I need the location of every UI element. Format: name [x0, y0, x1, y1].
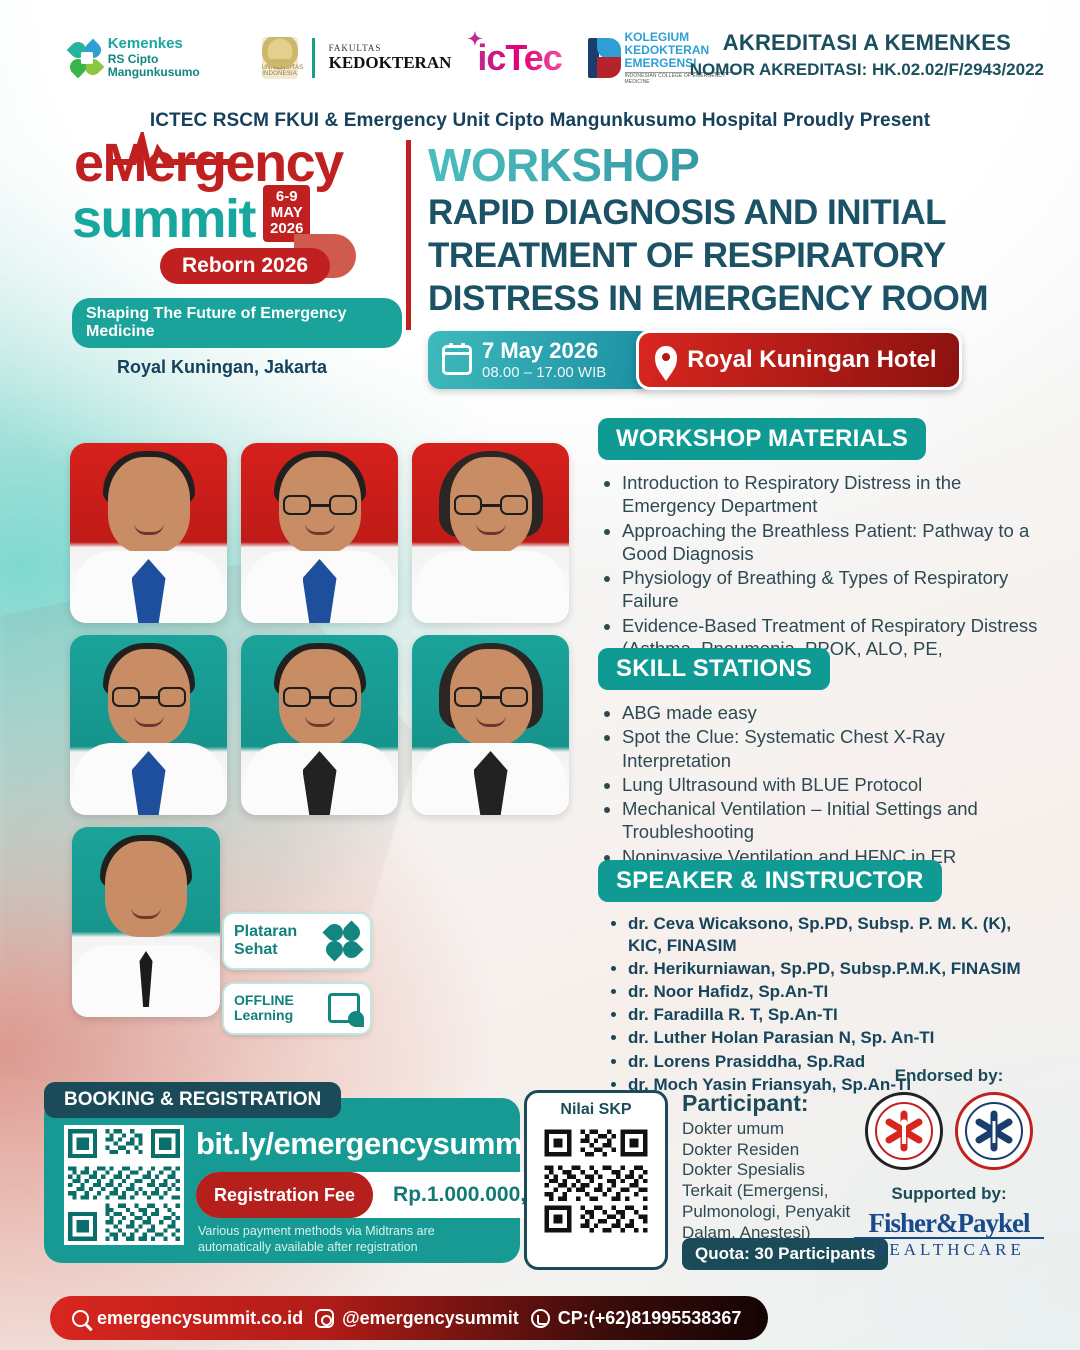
ui-seal-icon: UNIVERSITAS INDONESIA [262, 37, 298, 79]
list-item: dr. Noor Hafidz, Sp.An-TI [628, 981, 1048, 1003]
presenter-line: ICTEC RSCM FKUI & Emergency Unit Cipto M… [0, 110, 1080, 132]
whatsapp-icon [531, 1309, 550, 1328]
hipgabi-seal-icon [955, 1092, 1033, 1170]
endorsement-block: Endorsed by: [854, 1066, 1044, 1260]
booking-heading: BOOKING & REGISTRATION [44, 1082, 341, 1118]
instagram-text: @emergencysummit [342, 1308, 519, 1329]
endorsed-label: Endorsed by: [854, 1066, 1044, 1086]
summit-text: summit [72, 194, 255, 245]
fisher-paykel-name: Fisher&Paykel [854, 1210, 1044, 1237]
event-logo: eMergency summit 6-9 MAY 2026 Reborn 202… [72, 138, 402, 378]
plataran-flower-icon [326, 924, 360, 958]
participant-heading: Participant: [682, 1090, 862, 1117]
logo-divider [312, 38, 315, 78]
supported-label: Supported by: [854, 1184, 1044, 1204]
payment-note: Various payment methods via Midtrans are… [198, 1224, 435, 1255]
location-badge: Royal Kuningan Hotel [636, 330, 961, 390]
website-text: emergencysummit.co.id [97, 1308, 303, 1329]
list-item: dr. Luther Holan Parasian N, Sp. An-TI [628, 1027, 1048, 1049]
workshop-location: Royal Kuningan Hotel [687, 346, 936, 374]
list-item: Introduction to Respiratory Distress in … [622, 471, 1048, 518]
skp-panel: Nilai SKP [524, 1090, 668, 1270]
speaker-photo [412, 443, 569, 623]
ecg-line-icon [112, 132, 232, 176]
workshop-date: 7 May 2026 [482, 339, 606, 363]
star-of-life-icon [971, 1108, 1017, 1154]
workshop-kicker: WORKSHOP [428, 142, 1028, 189]
sparkle-icon: ✦ [467, 29, 481, 50]
speaker-photo [72, 827, 220, 1017]
participant-line: Terkait (Emergensi, [682, 1181, 862, 1202]
emergency-wordmark: eMergency [72, 138, 402, 189]
list-item: ABG made easy [622, 701, 1048, 724]
accreditation-number: NOMOR AKREDITASI: HK.02.02/F/2943/2022 [690, 60, 1044, 80]
partner-logos: Kemenkes RS Cipto Mangunkusumo UNIVERSIT… [70, 25, 740, 91]
fee-label: Registration Fee [196, 1172, 373, 1218]
supported-block: Supported by: Fisher&Paykel HEALTHCARE [854, 1184, 1044, 1260]
skp-label: Nilai SKP [527, 1101, 665, 1119]
skill-stations-section: SKILL STATIONS ABG made easy Spot the Cl… [598, 648, 1048, 869]
search-icon [72, 1310, 89, 1327]
kemenkes-logo: Kemenkes RS Cipto Mangunkusumo [70, 36, 240, 80]
skills-heading: SKILL STATIONS [598, 648, 830, 690]
perdameri-seal-icon [865, 1092, 943, 1170]
fisher-paykel-sub: HEALTHCARE [854, 1237, 1044, 1260]
reborn-badge: Reborn 2026 [160, 248, 330, 284]
whiteboard-presenter-icon [328, 993, 360, 1023]
universitas-indonesia-logo: UNIVERSITAS INDONESIA FAKULTAS KEDOKTERA… [262, 37, 452, 79]
speaker-photo [241, 635, 398, 815]
whatsapp-text: CP:(+62)81995538367 [558, 1308, 742, 1329]
speaker-instructor-section: SPEAKER & INSTRUCTOR dr. Ceva Wicaksono,… [598, 860, 1048, 1097]
registration-url[interactable]: bit.ly/emergencysummit [196, 1126, 540, 1162]
skills-list: ABG made easy Spot the Clue: Systematic … [622, 701, 1048, 868]
star-of-life-icon [881, 1108, 927, 1154]
plataran-line2: Sehat [234, 941, 297, 959]
event-date-month: MAY [270, 205, 303, 221]
list-item: dr. Faradilla R. T, Sp.An-TI [628, 1004, 1048, 1026]
list-item: Mechanical Ventilation – Initial Setting… [622, 797, 1048, 844]
participant-block: Participant: Dokter umum Dokter Residen … [682, 1090, 862, 1243]
workshop-title-line3: DISTRESS IN EMERGENCY ROOM [428, 279, 1028, 318]
instagram-icon [315, 1309, 334, 1328]
offline-line1: OFFLINE [234, 993, 294, 1009]
participant-line: Dokter umum [682, 1119, 862, 1140]
plataran-line1: Plataran [234, 923, 297, 941]
website-contact[interactable]: emergencysummit.co.id [72, 1308, 303, 1329]
workshop-materials-section: WORKSHOP MATERIALS Introduction to Respi… [598, 418, 1048, 685]
kemenkes-flower-icon [70, 41, 101, 75]
date-badge: 7 May 2026 08.00 – 17.00 WIB [428, 331, 652, 388]
poster-canvas: Kemenkes RS Cipto Mangunkusumo UNIVERSIT… [0, 0, 1080, 1350]
list-item: Lung Ultrasound with BLUE Protocol [622, 773, 1048, 796]
booking-qr-code[interactable] [64, 1125, 184, 1245]
map-pin-icon [655, 346, 677, 374]
list-item: dr. Herikurniawan, Sp.PD, Subsp.P.M.K, F… [628, 958, 1048, 980]
materials-heading: WORKSHOP MATERIALS [598, 418, 926, 460]
workshop-time: 08.00 – 17.00 WIB [482, 364, 606, 381]
speaker-photo [70, 635, 227, 815]
speaker-photo [241, 443, 398, 623]
platform-pills: Plataran Sehat OFFLINE Learning [222, 912, 372, 1047]
offline-learning-pill: OFFLINE Learning [222, 982, 372, 1035]
participant-line: Dokter Spesialis [682, 1160, 862, 1181]
list-item: dr. Ceva Wicaksono, Sp.PD, Subsp. P. M. … [628, 913, 1048, 957]
speaker-photo [412, 635, 569, 815]
speaker-photo [70, 443, 227, 623]
participant-line: Dokter Residen [682, 1140, 862, 1161]
workshop-title-block: WORKSHOP RAPID DIAGNOSIS AND INITIAL TRE… [428, 142, 1028, 318]
ictec-wordmark: icTec [477, 37, 561, 78]
ictec-logo: ✦ icTec [477, 37, 561, 79]
participant-line: Pulmonologi, Penyakit [682, 1202, 862, 1223]
registration-fee-row: Registration Fee Rp.1.000.000,- [196, 1172, 553, 1218]
kemenkes-name: Kemenkes [108, 36, 240, 53]
kemenkes-hospital: RS Cipto Mangunkusumo [108, 53, 240, 80]
list-item: Spot the Clue: Systematic Chest X-Ray In… [622, 725, 1048, 772]
workshop-title-line2: TREATMENT OF RESPIRATORY [428, 236, 1028, 275]
offline-line2: Learning [234, 1008, 294, 1024]
venue-city: Royal Kuningan, Jakarta [72, 357, 372, 378]
kolegium-mark-icon [588, 38, 619, 78]
accreditation-title: AKREDITASI A KEMENKES [690, 30, 1044, 56]
tagline-badge: Shaping The Future of Emergency Medicine [72, 298, 402, 348]
calendar-icon [442, 345, 472, 375]
vertical-divider [406, 140, 411, 330]
ui-seal-caption: UNIVERSITAS INDONESIA [262, 65, 298, 77]
workshop-title-line1: RAPID DIAGNOSIS AND INITIAL [428, 193, 1028, 232]
accreditation-block: AKREDITASI A KEMENKES NOMOR AKREDITASI: … [690, 30, 1044, 80]
speakers-heading: SPEAKER & INSTRUCTOR [598, 860, 942, 902]
fisher-paykel-logo: Fisher&Paykel HEALTHCARE [854, 1210, 1044, 1260]
event-detail-badges: 7 May 2026 08.00 – 17.00 WIB Royal Kunin… [428, 330, 962, 390]
plataran-sehat-pill: Plataran Sehat [222, 912, 372, 970]
list-item: Approaching the Breathless Patient: Path… [622, 519, 1048, 566]
list-item: Physiology of Breathing & Types of Respi… [622, 566, 1048, 613]
instagram-contact[interactable]: @emergencysummit [315, 1308, 519, 1329]
skp-qr-code[interactable] [540, 1125, 652, 1237]
whatsapp-contact[interactable]: CP:(+62)81995538367 [531, 1308, 742, 1329]
contact-bar: emergencysummit.co.id @emergencysummit C… [50, 1296, 768, 1340]
kedokteran-label: KEDOKTERAN [329, 54, 452, 72]
payment-note-line1: Various payment methods via Midtrans are [198, 1224, 435, 1240]
payment-note-line2: automatically available after registrati… [198, 1240, 435, 1256]
